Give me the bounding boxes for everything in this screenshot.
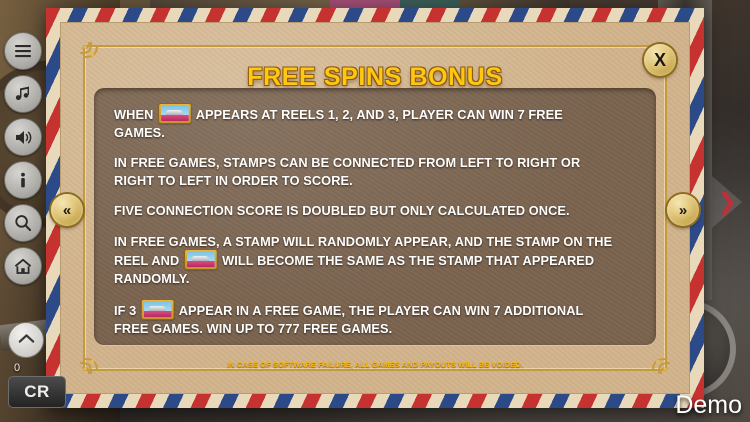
info-icon — [15, 172, 31, 189]
sidebar-item-menu[interactable] — [4, 32, 42, 70]
chevron-up-icon — [18, 331, 35, 349]
speaker-icon — [14, 129, 33, 146]
rule-paragraph: FIVE CONNECTION SCORE IS DOUBLED BUT ONL… — [114, 202, 615, 220]
demo-watermark: Demo — [675, 391, 742, 420]
music-icon — [14, 85, 32, 103]
rule-paragraph: IF 3 APPEAR IN A FREE GAME, THE PLAYER C… — [114, 300, 615, 337]
credit-value: 0 — [14, 362, 20, 374]
background-right-arrow: ❯ — [712, 176, 742, 228]
next-page-button[interactable]: » — [667, 194, 699, 226]
free-spins-bonus-dialog: FREE SPINS BONUS WHEN APPEARS AT REELS 1… — [46, 8, 704, 408]
home-icon — [14, 258, 32, 275]
sidebar — [4, 32, 44, 285]
sidebar-item-info[interactable] — [4, 161, 42, 199]
previous-page-button[interactable]: « — [51, 194, 83, 226]
credit-button[interactable]: CR — [8, 376, 66, 408]
search-icon — [14, 214, 32, 232]
sidebar-item-sound[interactable] — [4, 118, 42, 156]
train-stamp-icon — [185, 250, 217, 269]
rule-paragraph: IN FREE GAMES, A STAMP WILL RANDOMLY APP… — [114, 233, 615, 288]
train-stamp-icon — [159, 104, 191, 123]
disclaimer-text: IN CASE OF SOFTWARE FAILURE, ALL GAMES A… — [61, 360, 689, 369]
train-stamp-icon — [142, 300, 174, 319]
sidebar-item-search[interactable] — [4, 204, 42, 242]
sidebar-item-home[interactable] — [4, 247, 42, 285]
filigree-corner-icon — [79, 341, 113, 375]
rules-panel: WHEN APPEARS AT REELS 1, 2, AND 3, PLAYE… — [94, 88, 656, 345]
close-button[interactable]: X — [644, 44, 676, 76]
chevron-right-icon: ❯ — [718, 191, 736, 213]
rule-paragraph: IN FREE GAMES, STAMPS CAN BE CONNECTED F… — [114, 154, 615, 189]
dialog-paper: FREE SPINS BONUS WHEN APPEARS AT REELS 1… — [60, 22, 690, 394]
sidebar-item-music[interactable] — [4, 75, 42, 113]
menu-icon — [14, 44, 32, 58]
rule-paragraph: WHEN APPEARS AT REELS 1, 2, AND 3, PLAYE… — [114, 104, 615, 141]
sidebar-collapse-button[interactable] — [8, 322, 44, 358]
filigree-corner-icon — [637, 341, 671, 375]
